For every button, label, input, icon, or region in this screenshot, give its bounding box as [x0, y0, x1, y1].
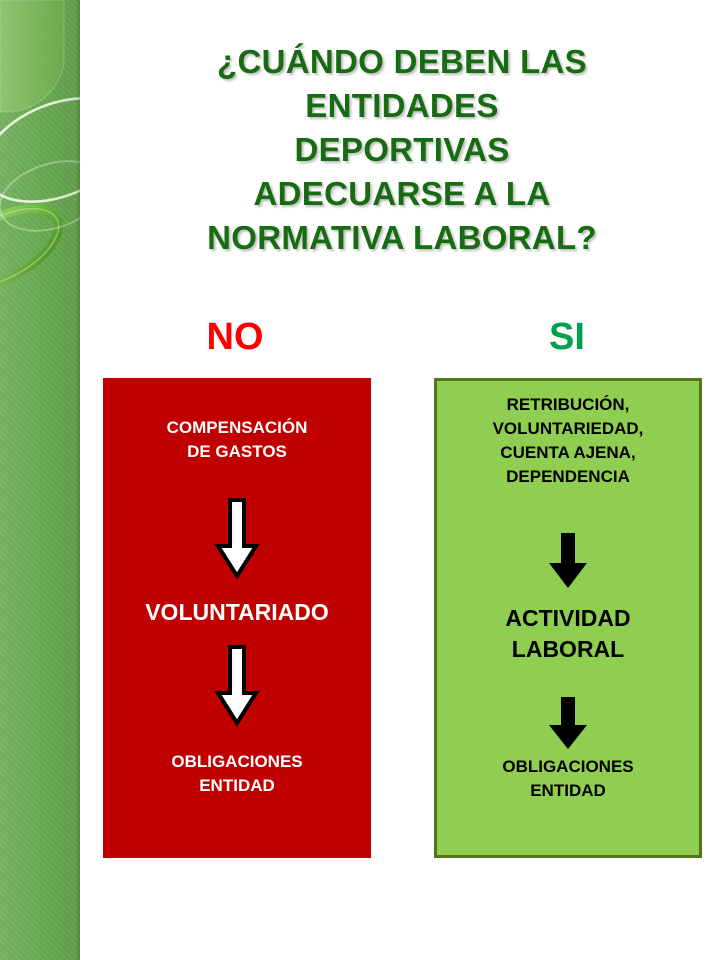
sidebar-shading — [0, 0, 80, 960]
si-arrow-1 — [437, 531, 699, 591]
no-step-1: COMPENSACIÓN DE GASTOS — [103, 416, 371, 464]
sidebar-right-edge — [77, 0, 80, 960]
no-step-3-line-1: OBLIGACIONES — [103, 750, 371, 774]
si-step-1-line-1: RETRIBUCIÓN, — [437, 393, 699, 417]
decorative-sidebar — [0, 0, 80, 960]
down-arrow-icon — [545, 531, 591, 591]
panel-si: RETRIBUCIÓN, VOLUNTARIEDAD, CUENTA AJENA… — [434, 378, 702, 858]
down-arrow-icon — [545, 695, 591, 751]
column-header-no: NO — [100, 315, 370, 359]
si-step-3-line-2: ENTIDAD — [437, 779, 699, 803]
si-step-2-line-1: ACTIVIDAD — [437, 603, 699, 634]
title-line-1: ¿CUÁNDO DEBEN LAS — [92, 40, 712, 84]
no-arrow-1 — [103, 496, 371, 582]
title-line-2: ENTIDADES — [92, 84, 712, 128]
no-step-3: OBLIGACIONES ENTIDAD — [103, 750, 371, 798]
no-step-2-line-1: VOLUNTARIADO — [103, 597, 371, 628]
si-step-1-line-4: DEPENDENCIA — [437, 465, 699, 489]
si-step-2-line-2: LABORAL — [437, 634, 699, 665]
title-line-4: ADECUARSE A LA — [92, 172, 712, 216]
no-step-3-line-2: ENTIDAD — [103, 774, 371, 798]
no-step-1-line-2: DE GASTOS — [103, 440, 371, 464]
si-arrow-2 — [437, 695, 699, 751]
si-step-3-line-1: OBLIGACIONES — [437, 755, 699, 779]
si-step-1: RETRIBUCIÓN, VOLUNTARIEDAD, CUENTA AJENA… — [437, 393, 699, 489]
panel-no: COMPENSACIÓN DE GASTOS VOLUNTARIADO OBLI… — [103, 378, 371, 858]
no-step-2: VOLUNTARIADO — [103, 597, 371, 628]
si-step-3: OBLIGACIONES ENTIDAD — [437, 755, 699, 803]
no-step-1-line-1: COMPENSACIÓN — [103, 416, 371, 440]
no-arrow-2 — [103, 643, 371, 729]
down-arrow-icon — [210, 643, 264, 729]
title-line-3: DEPORTIVAS — [92, 128, 712, 172]
title-line-5: NORMATIVA LABORAL? — [92, 216, 712, 260]
column-header-si: SI — [432, 315, 702, 359]
slide-title: ¿CUÁNDO DEBEN LAS ENTIDADES DEPORTIVAS A… — [92, 40, 712, 260]
down-arrow-icon — [210, 496, 264, 582]
si-step-1-line-3: CUENTA AJENA, — [437, 441, 699, 465]
si-step-2: ACTIVIDAD LABORAL — [437, 603, 699, 665]
si-step-1-line-2: VOLUNTARIEDAD, — [437, 417, 699, 441]
